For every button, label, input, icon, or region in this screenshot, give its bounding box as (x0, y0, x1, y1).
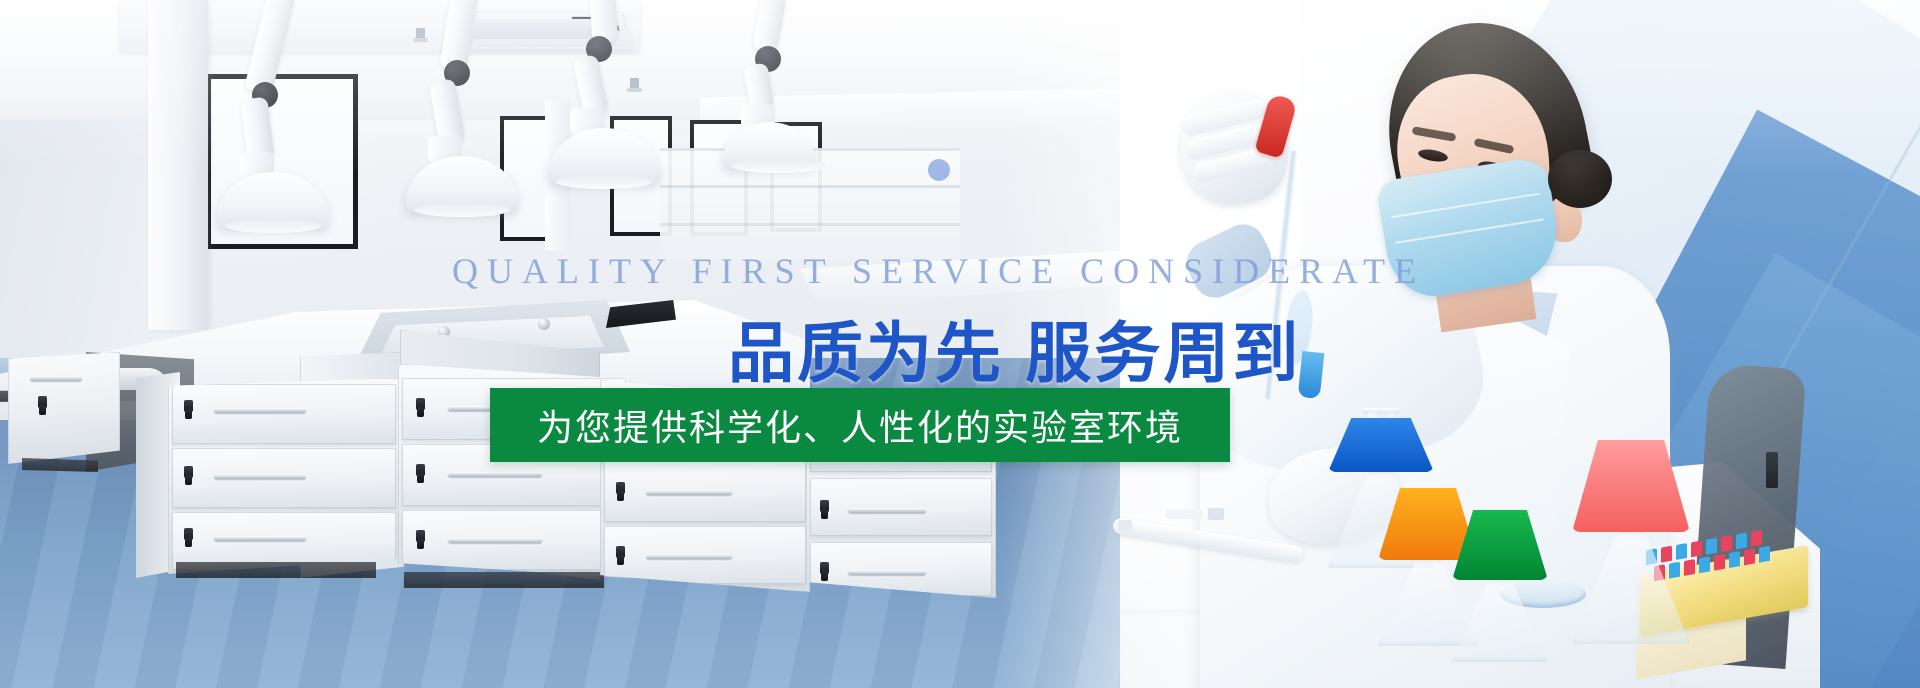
cabinet-lock-icon (616, 546, 625, 558)
cabinet-lock-icon (820, 562, 829, 574)
cabinet-lock-icon (38, 396, 47, 408)
drawer-handle (448, 538, 542, 543)
pipette-tip (1684, 559, 1695, 576)
pipette-tip (1736, 532, 1747, 549)
pipette-label (1208, 508, 1224, 520)
cabinet-lock-icon (184, 528, 193, 540)
pipette-tip (1706, 538, 1717, 555)
lab-drawer-cabinet (398, 364, 630, 578)
lab-drawer-cabinet (168, 378, 400, 574)
pipette-tip (1729, 551, 1740, 568)
drawer (810, 414, 992, 472)
pipette-tip (1699, 556, 1710, 573)
cabinet-plinth (176, 562, 376, 578)
hair-bun (1548, 150, 1612, 208)
chair-lever (1766, 452, 1778, 488)
equipment-badge-icon (928, 159, 950, 181)
drawer-handle (848, 444, 926, 449)
cabinet-lock-icon (820, 500, 829, 512)
pipette-tip (1661, 546, 1672, 563)
cabinet-plinth (404, 572, 604, 588)
cabinet-lock-icon (416, 398, 425, 410)
fire-sprinkler-icon (630, 78, 639, 92)
pipette-tip (1691, 540, 1702, 557)
cabinet-lock-icon (184, 400, 193, 412)
cabinet-lock-icon (416, 464, 425, 476)
pipette-tip (1751, 530, 1762, 547)
shelf-rail (660, 223, 960, 226)
small-bench-tool (1118, 520, 1132, 530)
drawer (172, 384, 396, 444)
drawer-handle (646, 490, 732, 495)
fire-sprinkler-icon (416, 28, 425, 42)
cabinet-lock-icon (820, 436, 829, 448)
hero-banner: QUALITY FIRST SERVICE CONSIDERATE 品质为先 服… (0, 0, 1920, 688)
lab-drawer-cabinet (806, 398, 996, 598)
cabinet-lock-icon (416, 530, 425, 542)
cabinet-lock-icon (184, 466, 193, 478)
pipette-tip (1669, 562, 1680, 579)
pipette-tip (1744, 548, 1755, 565)
drawer-handle (448, 472, 542, 477)
drawer-handle (30, 376, 82, 381)
mobile-pedestal-cabinet (8, 352, 120, 464)
cabinet-lock-icon (616, 482, 625, 494)
drawer (810, 478, 992, 536)
shelf-rail (660, 185, 960, 188)
pipette-tip (1714, 554, 1725, 571)
drawer-handle (848, 508, 926, 513)
pipette-tip (1676, 543, 1687, 560)
drawer-handle (214, 408, 306, 413)
drawer-handle (448, 406, 542, 411)
drawer-handle (646, 554, 732, 559)
pipette-label (1166, 510, 1202, 519)
structural-column (148, 0, 208, 330)
pipette-tip (1721, 535, 1732, 552)
drawer-handle (214, 536, 306, 541)
pipette-tip (1759, 546, 1770, 563)
drawer-handle (848, 570, 926, 575)
drawer-handle (214, 474, 306, 479)
lab-drawer-cabinet (600, 380, 810, 592)
cabinet-lock-icon (616, 416, 625, 428)
drawer-handle (646, 424, 732, 429)
sink-tap-icon (538, 318, 550, 330)
